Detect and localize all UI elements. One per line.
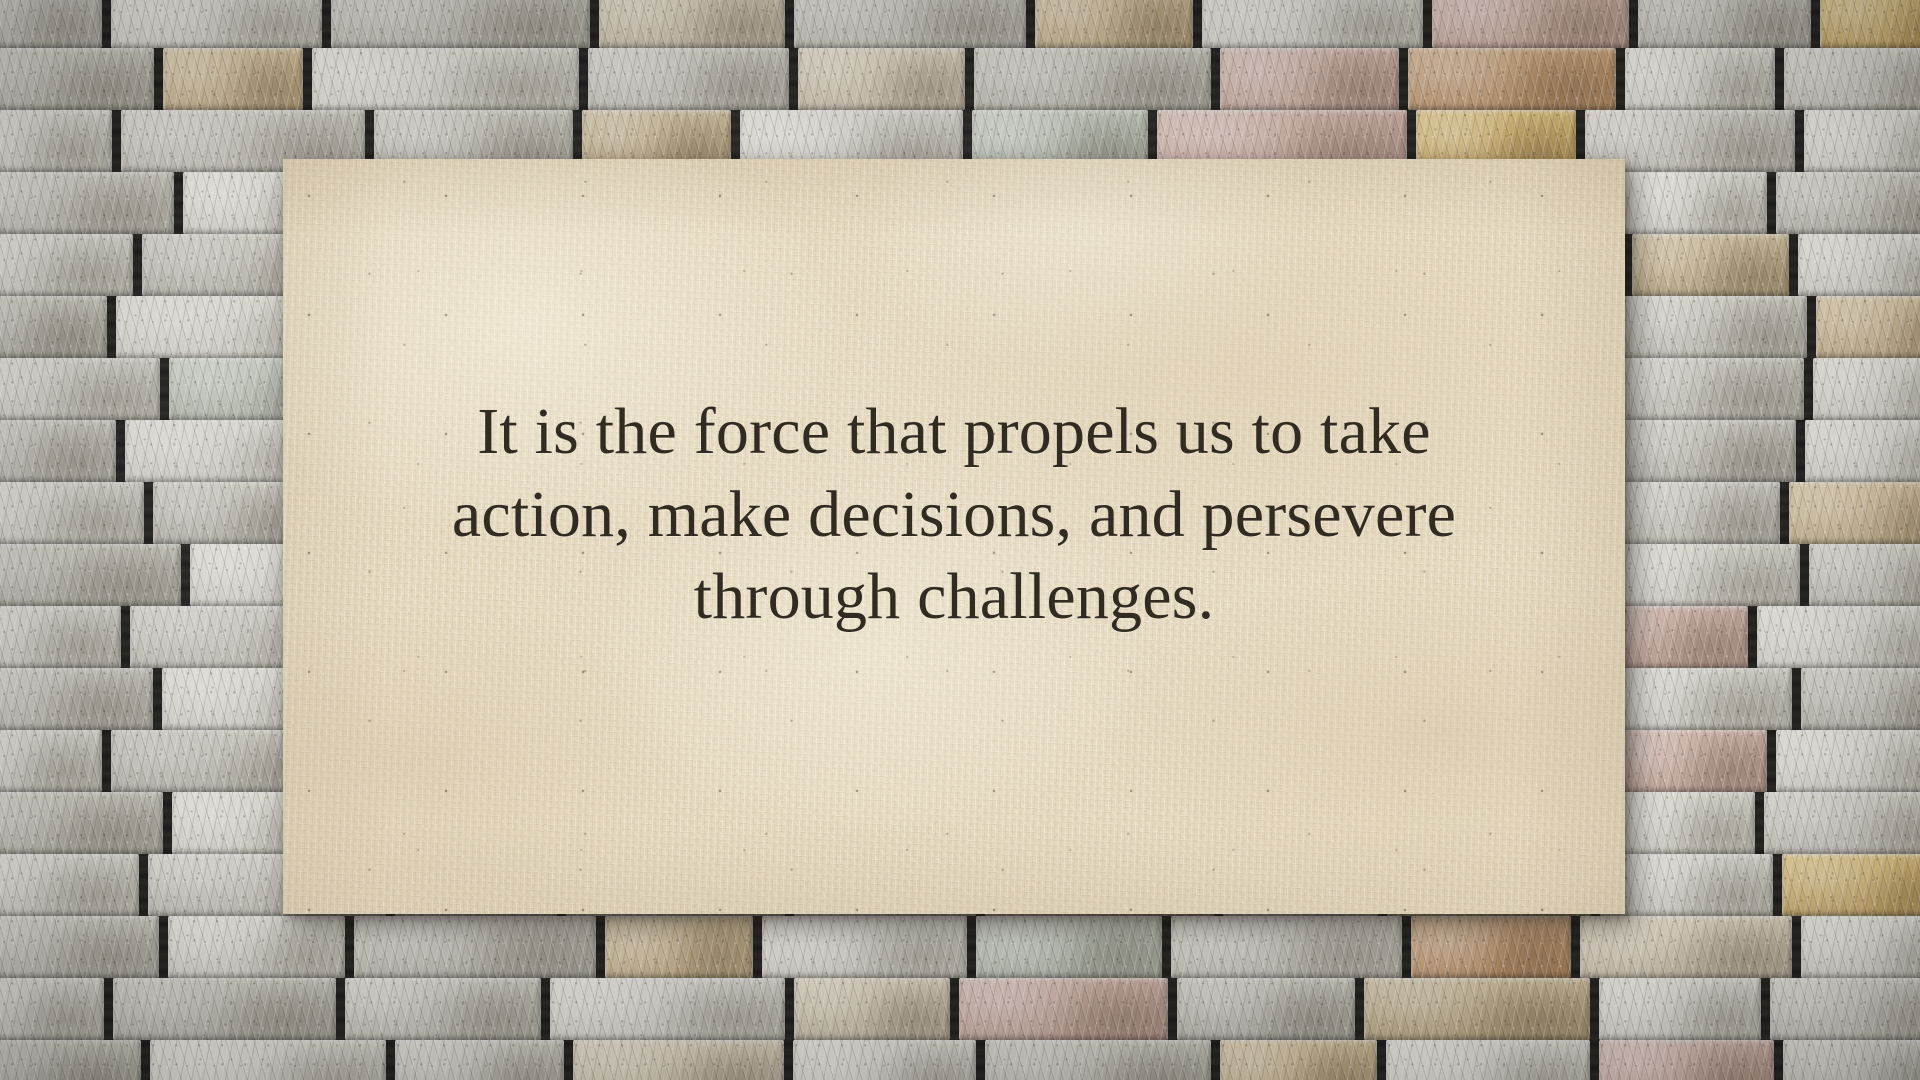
stone-course (0, 916, 1920, 978)
stone-course (0, 0, 1920, 48)
stone-course (0, 1040, 1920, 1080)
quote-text: It is the force that propels us to take … (283, 391, 1625, 639)
quote-line-3: through challenges. (283, 556, 1625, 639)
scene-root: It is the force that propels us to take … (0, 0, 1920, 1080)
stone-course (0, 48, 1920, 110)
quote-line-2: action, make decisions, and persevere (283, 474, 1625, 557)
stone-course (0, 978, 1920, 1040)
quote-line-1: It is the force that propels us to take (283, 391, 1625, 474)
paper-sign: It is the force that propels us to take … (283, 159, 1625, 914)
